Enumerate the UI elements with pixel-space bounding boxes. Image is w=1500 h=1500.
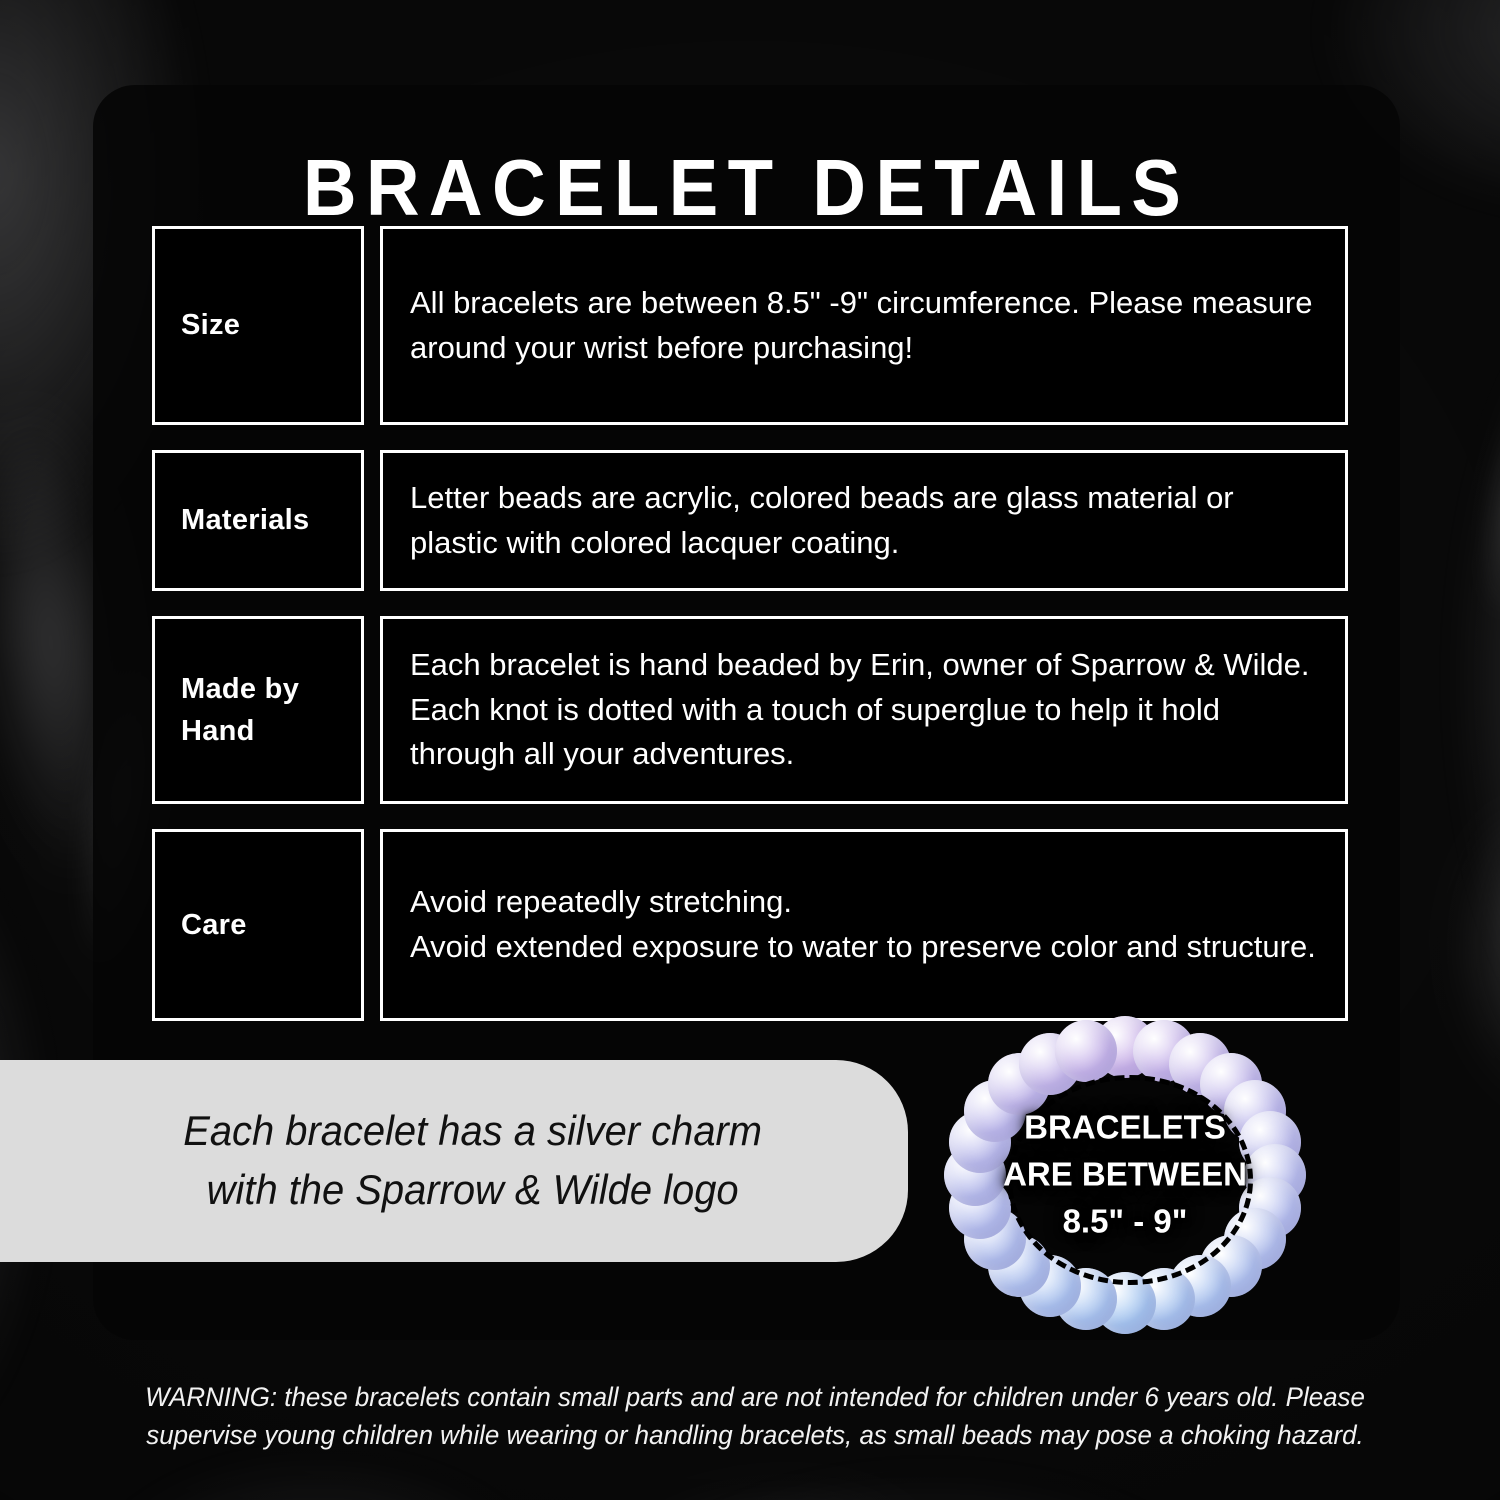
table-row-label-cell: Made by Hand <box>152 616 364 804</box>
table-row-label-cell: Care <box>152 829 364 1021</box>
bracelet-details-table: Size All bracelets are between 8.5" -9" … <box>152 226 1348 1021</box>
table-row-label-cell: Size <box>152 226 364 425</box>
table-row-text: Each bracelet is hand beaded by Erin, ow… <box>410 643 1319 777</box>
silver-charm-banner: Each bracelet has a silver charm with th… <box>0 1060 908 1262</box>
silver-charm-text: Each bracelet has a silver charm with th… <box>146 1102 763 1220</box>
table-row-content-cell: All bracelets are between 8.5" -9" circu… <box>380 226 1348 425</box>
table-row-content-cell: Each bracelet is hand beaded by Erin, ow… <box>380 616 1348 804</box>
table-row-text: All bracelets are between 8.5" -9" circu… <box>410 281 1319 370</box>
table-row: Materials Letter beads are acrylic, colo… <box>152 450 1348 591</box>
table-row-text: Letter beads are acrylic, colored beads … <box>410 476 1319 565</box>
table-row-text: Avoid repeatedly stretching. Avoid exten… <box>410 880 1316 969</box>
table-row-label: Size <box>181 304 240 346</box>
table-row: Made by Hand Each bracelet is hand beade… <box>152 616 1348 804</box>
table-row-content-cell: Avoid repeatedly stretching. Avoid exten… <box>380 829 1348 1021</box>
table-row-label: Made by Hand <box>181 668 361 752</box>
table-row: Care Avoid repeatedly stretching. Avoid … <box>152 829 1348 1021</box>
page-title: BRACELET DETAILS <box>139 148 1355 228</box>
table-row-content-cell: Letter beads are acrylic, colored beads … <box>380 450 1348 591</box>
table-row: Size All bracelets are between 8.5" -9" … <box>152 226 1348 425</box>
table-row-label: Materials <box>181 499 309 541</box>
table-row-label-cell: Materials <box>152 450 364 591</box>
table-row-label: Care <box>181 904 247 946</box>
bracelet-size-badge-text: BRACELETS ARE BETWEEN 8.5" - 9" <box>960 1105 1290 1246</box>
warning-text: WARNING: these bracelets contain small p… <box>88 1378 1422 1455</box>
bracelet-size-badge: BRACELETS ARE BETWEEN 8.5" - 9" <box>945 1025 1305 1325</box>
